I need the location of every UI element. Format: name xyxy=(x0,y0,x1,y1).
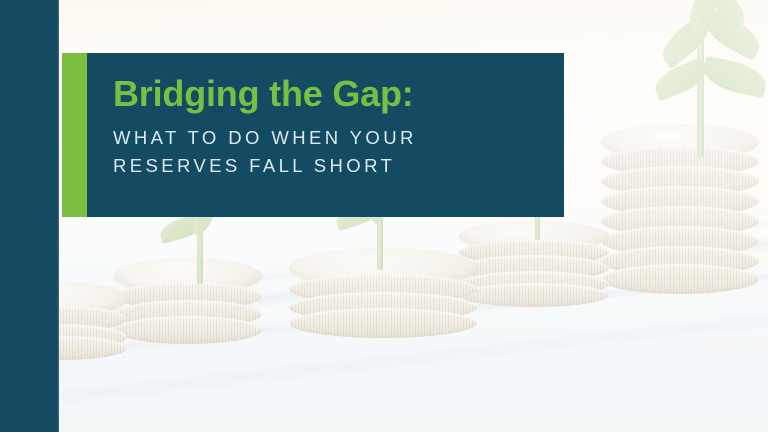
stem xyxy=(697,32,704,157)
green-accent-bar xyxy=(62,53,87,217)
page-title: Bridging the Gap: xyxy=(113,75,542,113)
page-subtitle-line-2: Reserves fall short xyxy=(113,152,542,180)
left-sidebar xyxy=(0,0,59,432)
title-slide: Bridging the Gap: What to do when your R… xyxy=(0,0,768,432)
title-block: Bridging the Gap: What to do when your R… xyxy=(62,53,564,217)
coin-stack-far-left xyxy=(59,282,127,360)
coin xyxy=(459,283,609,307)
seedling-left xyxy=(161,212,241,284)
page-subtitle-line-1: What to do when your xyxy=(113,124,542,152)
page-subtitle: What to do when your Reserves fall short xyxy=(113,124,542,180)
leaf xyxy=(701,56,768,99)
seedling-right xyxy=(659,4,768,154)
coin xyxy=(601,264,759,294)
coin xyxy=(289,308,477,338)
coin xyxy=(114,316,262,344)
title-panel: Bridging the Gap: What to do when your R… xyxy=(87,53,564,217)
sidebar-seam xyxy=(56,0,59,432)
